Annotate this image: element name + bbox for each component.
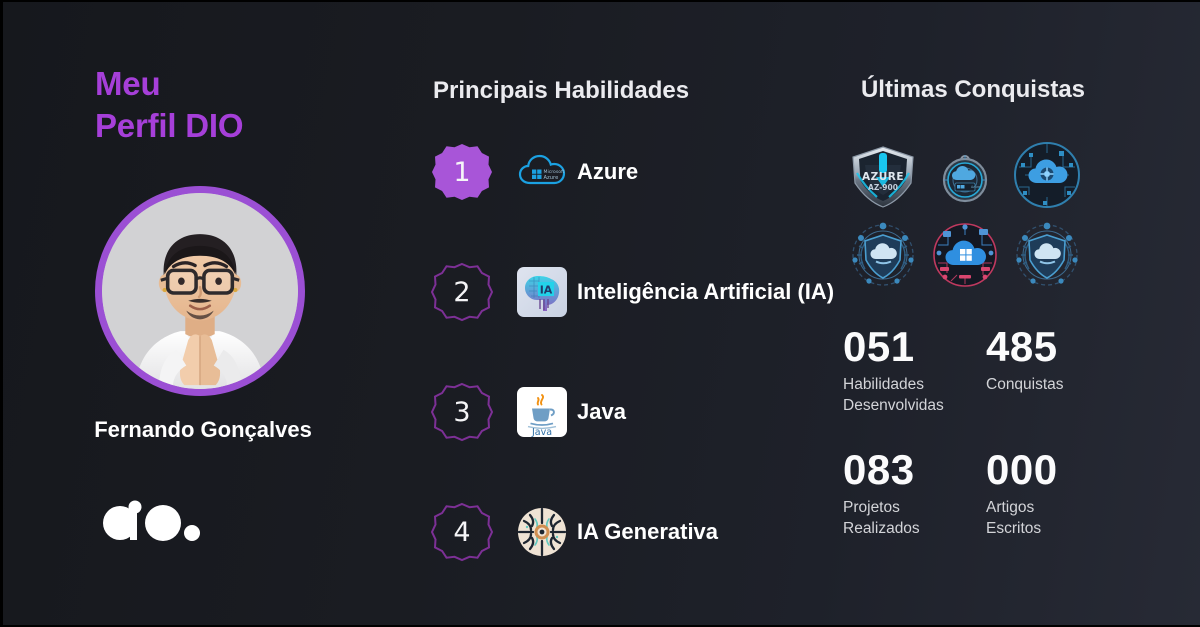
stat-label: Conquistas [986, 375, 1129, 396]
java-icon: Java [517, 387, 567, 437]
achievements-section: Últimas Conquistas [828, 2, 1200, 627]
achievements-heading: Últimas Conquistas [828, 76, 1118, 104]
cloud-shield-laurel-icon[interactable] [843, 215, 923, 295]
stat-label: Habilidades Desenvolvidas [843, 375, 986, 416]
svg-text:Azure: Azure [971, 185, 980, 189]
svg-text:Java: Java [531, 427, 552, 437]
profile-name: Fernando Gonçalves [3, 417, 403, 443]
stats-grid: 051 Habilidades Desenvolvidas 485 Conqui… [843, 324, 1143, 539]
generative-ai-icon [517, 507, 567, 557]
svg-text:Azure: Azure [544, 175, 559, 181]
stat-value: 083 [843, 447, 986, 492]
rank-number: 4 [431, 501, 493, 563]
profile-card: Meu Perfil DIO [0, 0, 1200, 627]
rank-number: 1 [431, 141, 493, 203]
stat-value: 051 [843, 324, 986, 369]
avatar [95, 186, 305, 396]
stat-value: 485 [986, 324, 1129, 369]
stat-projects: 083 Projetos Realizados [843, 447, 986, 540]
stat-label: Projetos Realizados [843, 498, 986, 539]
rank-number: 3 [431, 381, 493, 443]
rank-badge-2: 2 [431, 261, 493, 323]
ai-brain-icon: IA [517, 267, 567, 317]
left-profile-panel: Meu Perfil DIO [3, 2, 413, 627]
skill-row[interactable]: 3 Java Java [431, 376, 831, 448]
stat-label: Artigos Escritos [986, 498, 1129, 539]
rank-number: 2 [431, 261, 493, 323]
page-title: Meu Perfil DIO [95, 63, 243, 147]
stat-skills: 051 Habilidades Desenvolvidas [843, 324, 986, 417]
cloud-medal-icon[interactable]: Azure [925, 135, 1005, 215]
rank-badge-4: 4 [431, 501, 493, 563]
rank-badge-1: 1 [431, 141, 493, 203]
skill-label: IA Generativa [577, 519, 718, 545]
skill-label: Java [577, 399, 626, 425]
svg-text:AZURE: AZURE [862, 171, 904, 183]
avatar-illustration [102, 193, 298, 389]
stat-articles: 000 Artigos Escritos [986, 447, 1129, 540]
skill-label: Inteligência Artificial (IA) [577, 279, 834, 305]
stat-achievements: 485 Conquistas [986, 324, 1129, 417]
skill-label: Azure [577, 159, 638, 185]
azure-az900-shield-icon[interactable]: AZURE AZ-900 [843, 135, 923, 215]
skill-row[interactable]: 1 Microsoft Azure Azure [431, 136, 831, 208]
cloud-shield-laurel-icon[interactable] [1007, 215, 1087, 295]
cloud-circuit-icon[interactable] [1007, 135, 1087, 215]
rank-badge-3: 3 [431, 381, 493, 443]
dio-logo [97, 494, 205, 542]
skill-row[interactable]: 4 [431, 496, 831, 568]
windows-cloud-circuit-icon[interactable] [925, 215, 1005, 295]
svg-text:IA: IA [540, 284, 553, 297]
svg-text:AZ-900: AZ-900 [868, 183, 898, 192]
achievement-badge-grid: AZURE AZ-900 Azure [843, 135, 1103, 295]
skill-row[interactable]: 2 [431, 256, 831, 328]
azure-cloud-icon: Microsoft Azure [517, 147, 567, 197]
stat-value: 000 [986, 447, 1129, 492]
skills-heading: Principais Habilidades [433, 77, 689, 105]
skills-section: Principais Habilidades 1 Microsoft Azure [413, 2, 828, 627]
